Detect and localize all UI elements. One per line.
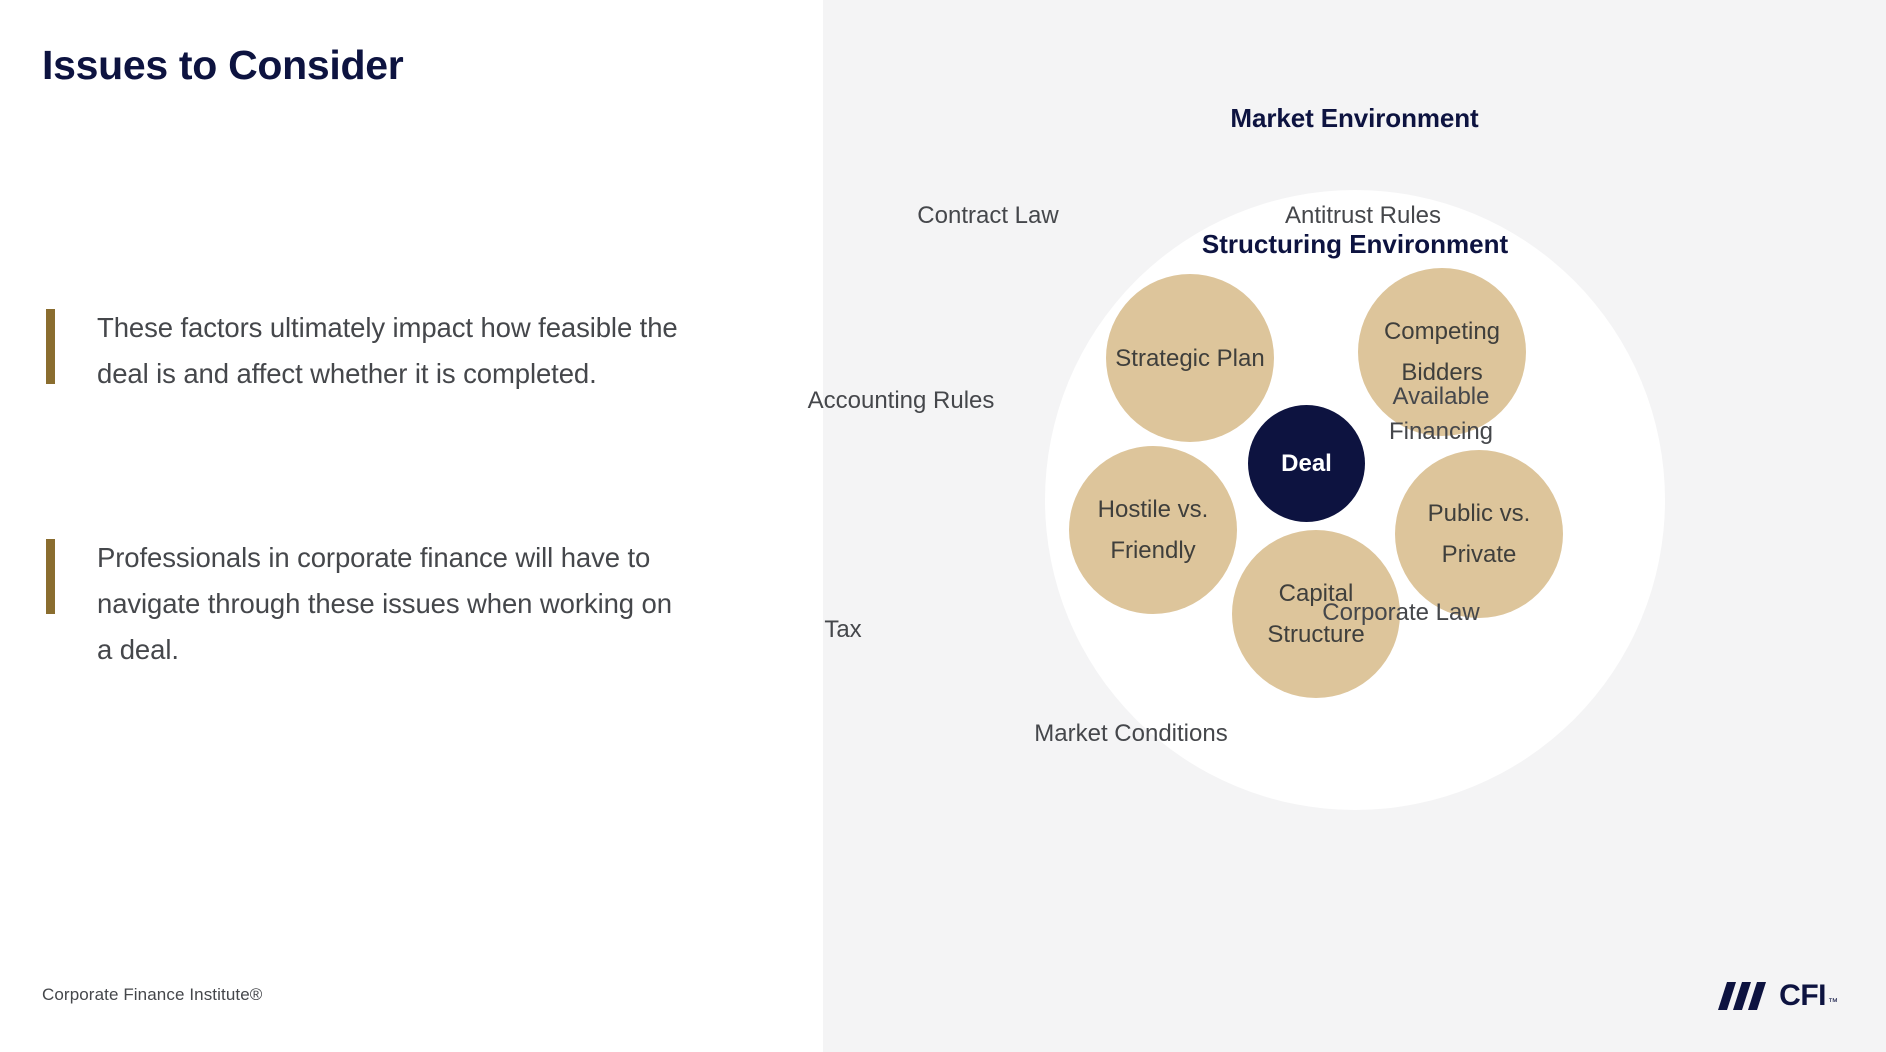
node-public-vs-private[interactable]: Public vs. Private	[1395, 450, 1563, 618]
content-panel: Issues to Consider These factors ultimat…	[0, 0, 823, 1052]
bullet-accent-bar	[46, 309, 55, 384]
page-title: Issues to Consider	[42, 42, 403, 89]
bullet-text: These factors ultimately impact how feas…	[97, 305, 687, 397]
label-contract-law: Contract Law	[888, 198, 1088, 233]
label-accounting-rules: Accounting Rules	[801, 383, 1001, 418]
diagram-panel: Market Environment Structuring Environme…	[823, 0, 1886, 1052]
node-hostile-vs-friendly[interactable]: Hostile vs. Friendly	[1069, 446, 1237, 614]
node-strategic-plan[interactable]: Strategic Plan	[1106, 274, 1274, 442]
cfi-wordmark: CFI	[1779, 981, 1826, 1011]
label-available-financing: Available Financing	[1341, 379, 1541, 449]
bullet-item: Professionals in corporate finance will …	[46, 535, 687, 673]
label-market-conditions: Market Conditions	[1031, 716, 1231, 751]
bullet-text: Professionals in corporate finance will …	[97, 535, 687, 673]
label-tax: Tax	[743, 612, 943, 647]
bullet-accent-bar	[46, 539, 55, 614]
cfi-trademark: ™	[1828, 997, 1838, 1008]
footer-credit: Corporate Finance Institute®	[42, 985, 262, 1005]
label-corporate-law: Corporate Law	[1301, 595, 1501, 630]
cfi-logo: CFI ™	[1715, 981, 1838, 1011]
cfi-bars-icon	[1715, 981, 1769, 1011]
label-antitrust-rules: Antitrust Rules	[1263, 198, 1463, 233]
slide-root: Issues to Consider These factors ultimat…	[0, 0, 1886, 1052]
market-environment-heading: Market Environment	[823, 103, 1886, 134]
bullet-item: These factors ultimately impact how feas…	[46, 305, 687, 397]
